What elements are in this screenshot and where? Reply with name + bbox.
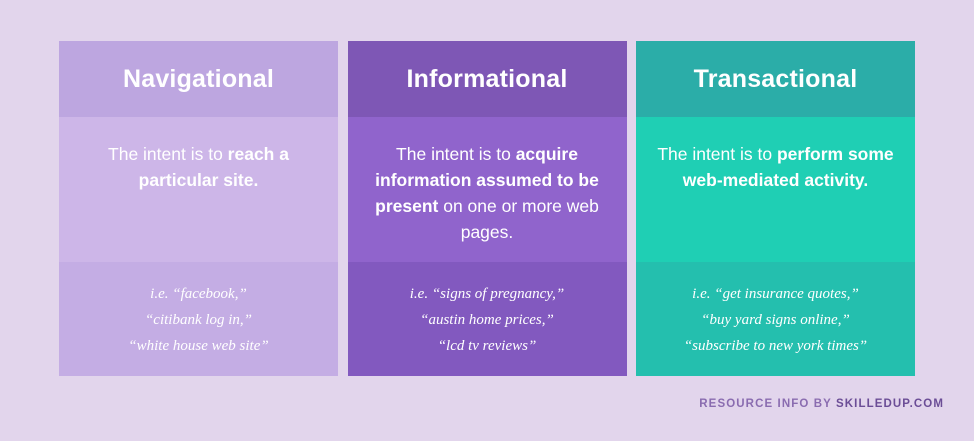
example-item: i.e. “signs of pregnancy,” bbox=[410, 282, 564, 308]
column-body-informational: The intent is to acquire information ass… bbox=[348, 117, 627, 262]
footer-brand: SKILLEDUP.COM bbox=[836, 398, 944, 410]
example-item: “lcd tv reviews” bbox=[410, 334, 564, 360]
intent-column-informational: Informational The intent is to acquire i… bbox=[348, 41, 627, 376]
column-description-informational: The intent is to acquire information ass… bbox=[348, 142, 627, 246]
intent-column-navigational: Navigational The intent is to reach a pa… bbox=[59, 41, 338, 376]
column-description-navigational: The intent is to reach a particular site… bbox=[59, 142, 338, 194]
search-intent-infographic: Navigational The intent is to reach a pa… bbox=[0, 0, 974, 441]
column-header-transactional: Transactional bbox=[636, 41, 915, 117]
example-item: i.e. “facebook,” bbox=[128, 282, 268, 308]
column-body-navigational: The intent is to reach a particular site… bbox=[59, 117, 338, 262]
description-lead-transactional: The intent is to bbox=[657, 144, 777, 164]
column-examples-informational: i.e. “signs of pregnancy,” “austin home … bbox=[348, 262, 627, 376]
description-tail-informational: on one or more web pages. bbox=[438, 196, 599, 242]
column-title-informational: Informational bbox=[407, 67, 568, 92]
example-item: “citibank log in,” bbox=[128, 308, 268, 334]
examples-list-transactional: i.e. “get insurance quotes,” “buy yard s… bbox=[678, 282, 873, 359]
examples-list-navigational: i.e. “facebook,” “citibank log in,” “whi… bbox=[122, 282, 274, 359]
column-title-transactional: Transactional bbox=[694, 67, 858, 92]
column-description-transactional: The intent is to perform some web-mediat… bbox=[636, 142, 915, 194]
column-title-navigational: Navigational bbox=[123, 67, 274, 92]
footer-prefix: RESOURCE INFO BY bbox=[699, 398, 836, 410]
column-examples-transactional: i.e. “get insurance quotes,” “buy yard s… bbox=[636, 262, 915, 376]
intent-columns: Navigational The intent is to reach a pa… bbox=[59, 41, 915, 376]
description-lead-informational: The intent is to bbox=[396, 144, 516, 164]
example-item: “white house web site” bbox=[128, 334, 268, 360]
examples-list-informational: i.e. “signs of pregnancy,” “austin home … bbox=[404, 282, 570, 359]
column-header-navigational: Navigational bbox=[59, 41, 338, 117]
example-item: “austin home prices,” bbox=[410, 308, 564, 334]
footer-attribution: RESOURCE INFO BY SKILLEDUP.COM bbox=[699, 398, 944, 410]
example-item: “buy yard signs online,” bbox=[684, 308, 867, 334]
intent-column-transactional: Transactional The intent is to perform s… bbox=[636, 41, 915, 376]
description-lead-navigational: The intent is to bbox=[108, 144, 228, 164]
example-item: i.e. “get insurance quotes,” bbox=[684, 282, 867, 308]
column-header-informational: Informational bbox=[348, 41, 627, 117]
column-examples-navigational: i.e. “facebook,” “citibank log in,” “whi… bbox=[59, 262, 338, 376]
example-item: “subscribe to new york times” bbox=[684, 334, 867, 360]
column-body-transactional: The intent is to perform some web-mediat… bbox=[636, 117, 915, 262]
